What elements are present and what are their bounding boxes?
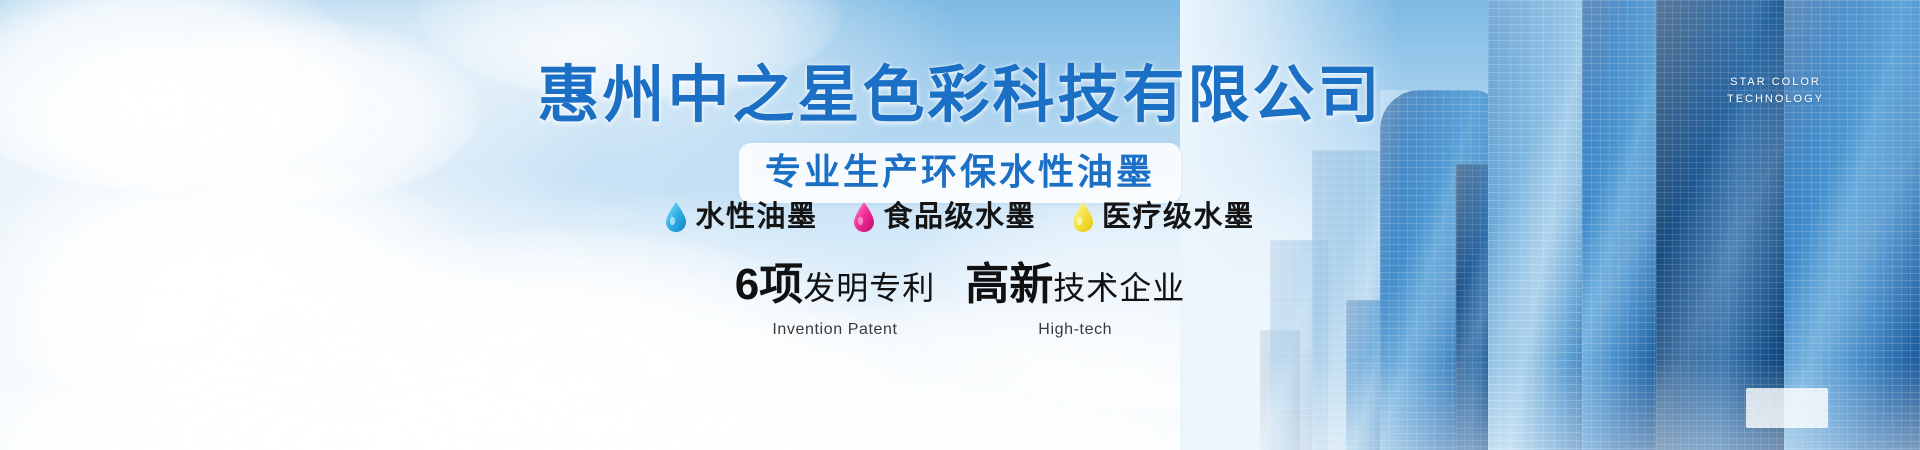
feature-list: 水性油墨 食品级水墨	[0, 200, 1920, 234]
badge-chinese-text: 高新技术企业	[965, 262, 1185, 318]
feature-item-medical-grade-ink: 医疗级水墨	[1072, 200, 1255, 234]
feature-label: 食品级水墨	[883, 200, 1036, 234]
badge-strong-text: 6项	[735, 260, 803, 309]
badge-rest-text: 技术企业	[1053, 270, 1185, 306]
banner-content: 惠州中之星色彩科技有限公司 专业生产环保水性油墨 水性油	[0, 0, 1920, 450]
page-title: 惠州中之星色彩科技有限公司	[0, 60, 1920, 132]
credential-badges: 6项发明专利 Invention Patent 高新技术企业 High-tech	[0, 262, 1920, 340]
badge-high-tech-enterprise: 高新技术企业 High-tech	[965, 262, 1185, 340]
badge-invention-patent: 6项发明专利 Invention Patent	[735, 262, 936, 340]
badge-english-text: Invention Patent	[735, 320, 936, 340]
subtitle-pill: 专业生产环保水性油墨	[739, 143, 1181, 203]
badge-rest-text: 发明专利	[803, 270, 935, 306]
feature-item-water-based-ink: 水性油墨	[665, 200, 817, 234]
water-drop-icon	[665, 202, 687, 232]
badge-english-text: High-tech	[965, 320, 1185, 340]
subtitle-row: 专业生产环保水性油墨	[0, 143, 1920, 203]
badge-strong-text: 高新	[965, 260, 1053, 309]
water-drop-icon	[1072, 202, 1094, 232]
promotional-banner: STAR COLOR TECHNOLOGY Star Color 惠州中之星色彩…	[0, 0, 1920, 450]
badge-chinese-text: 6项发明专利	[735, 262, 936, 318]
feature-label: 医疗级水墨	[1102, 200, 1255, 234]
water-drop-icon	[853, 202, 875, 232]
feature-label: 水性油墨	[695, 200, 817, 234]
feature-item-food-grade-ink: 食品级水墨	[853, 200, 1036, 234]
